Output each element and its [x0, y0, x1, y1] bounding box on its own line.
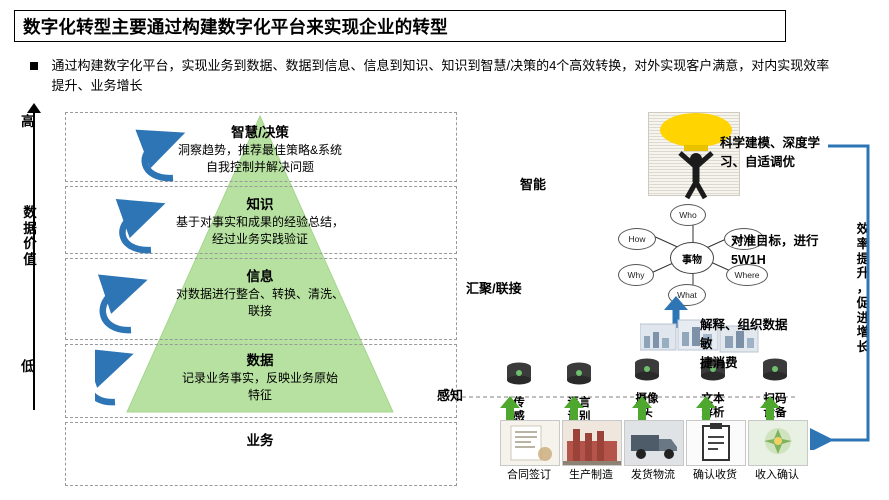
- slide-title: 数字化转型主要通过构建数字化平台来实现企业的转型: [14, 10, 786, 42]
- pyramid-level-business-title: 业务: [65, 432, 455, 450]
- photo-revenue-confirm: [748, 420, 808, 466]
- bullet-text: 通过构建数字化平台，实现业务到数据、数据到信息、信息到知识、知识到智慧/决策的4…: [51, 56, 841, 96]
- photo-caption-revenue: 收入确认: [746, 466, 808, 482]
- photo-manufacturing: [562, 420, 622, 466]
- axis-label-high: 高: [21, 110, 35, 130]
- photo-caption-contract: 合同签订: [498, 466, 560, 482]
- slide-title-text: 数字化转型主要通过构建数字化平台来实现企业的转型: [15, 14, 448, 39]
- axis-label-low: 低: [21, 355, 35, 375]
- bullet-paragraph: 通过构建数字化平台，实现业务到数据、数据到信息、信息到知识、知识到智慧/决策的4…: [30, 56, 860, 96]
- photo-caption-logistics: 发货物流: [622, 466, 684, 482]
- note-explain: 解释、组织数据敏捷消费: [700, 316, 796, 372]
- transformation-arrows: [95, 118, 215, 418]
- photo-caption-receipt: 确认收货: [684, 466, 746, 482]
- w5h1-who: Who: [670, 204, 706, 226]
- w5h1-why: Why: [618, 264, 654, 286]
- w5h1-how: How: [618, 228, 656, 250]
- photo-contract: [500, 420, 560, 466]
- bullet-square-icon: [30, 62, 38, 70]
- photo-caption-manufacturing: 生产制造: [560, 466, 622, 482]
- w5h1-center: 事物: [670, 242, 714, 274]
- photo-receipt-confirm: [686, 420, 746, 466]
- photo-logistics: [624, 420, 684, 466]
- axis-label-value: 数据价值: [22, 205, 38, 267]
- pyramid-level-business: 业务: [65, 432, 455, 450]
- feedback-loop-arrow: [806, 140, 886, 450]
- slide-canvas: 数字化转型主要通过构建数字化平台来实现企业的转型 通过构建数字化平台，实现业务到…: [0, 0, 889, 500]
